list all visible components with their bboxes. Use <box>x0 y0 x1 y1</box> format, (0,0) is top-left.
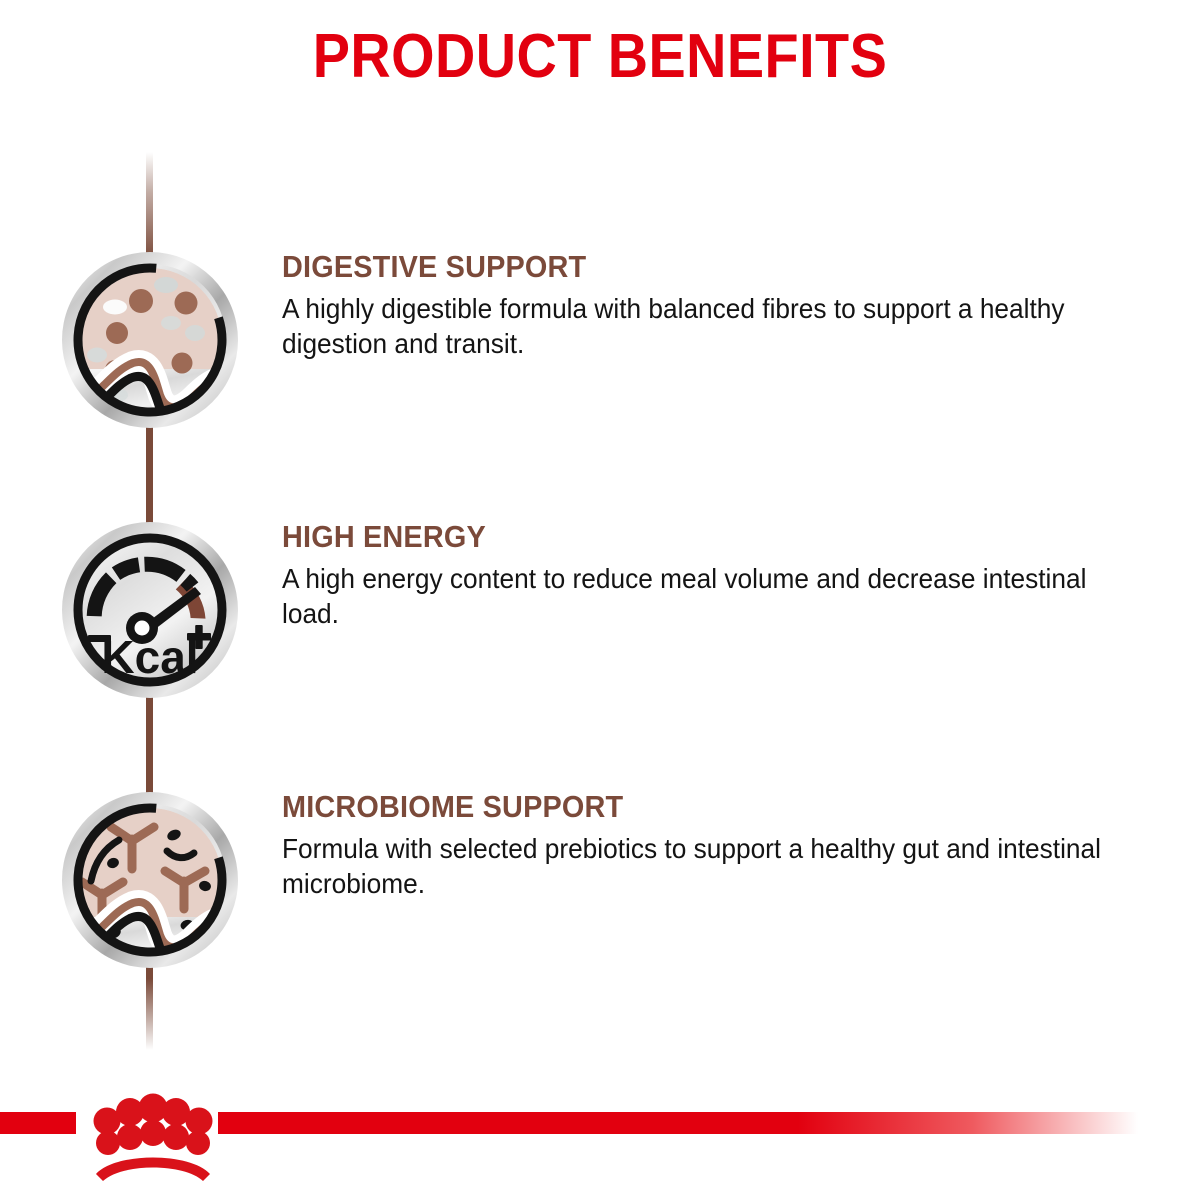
benefit-body: Formula with selected prebiotics to supp… <box>282 831 1122 903</box>
footer-bar-left <box>0 1112 76 1134</box>
benefit-text-digestive-support: DIGESTIVE SUPPORT A highly digestible fo… <box>282 249 1162 362</box>
microbiome-support-icon <box>55 785 245 975</box>
footer <box>0 1090 1200 1200</box>
benefit-text-high-energy: HIGH ENERGY A high energy content to red… <box>282 519 1162 632</box>
royal-canin-crown-logo <box>80 1090 225 1190</box>
benefit-body: A high energy content to reduce meal vol… <box>282 561 1122 633</box>
digestive-support-icon <box>55 245 245 435</box>
benefit-item-high-energy: Kcal HIGH ENERGY A high energy content t… <box>0 515 1200 705</box>
benefit-body: A highly digestible formula with balance… <box>282 291 1122 363</box>
footer-bar-right <box>218 1112 1138 1134</box>
benefit-heading: DIGESTIVE SUPPORT <box>282 249 1100 285</box>
benefit-heading: MICROBIOME SUPPORT <box>282 789 1100 825</box>
benefit-heading: HIGH ENERGY <box>282 519 1100 555</box>
page-title: PRODUCT BENEFITS <box>60 26 1140 88</box>
benefit-item-microbiome-support: MICROBIOME SUPPORT Formula with selected… <box>0 785 1200 975</box>
high-energy-kcal-gauge-icon: Kcal <box>55 515 245 705</box>
benefit-item-digestive-support: DIGESTIVE SUPPORT A highly digestible fo… <box>0 245 1200 435</box>
benefit-text-microbiome-support: MICROBIOME SUPPORT Formula with selected… <box>282 789 1162 902</box>
